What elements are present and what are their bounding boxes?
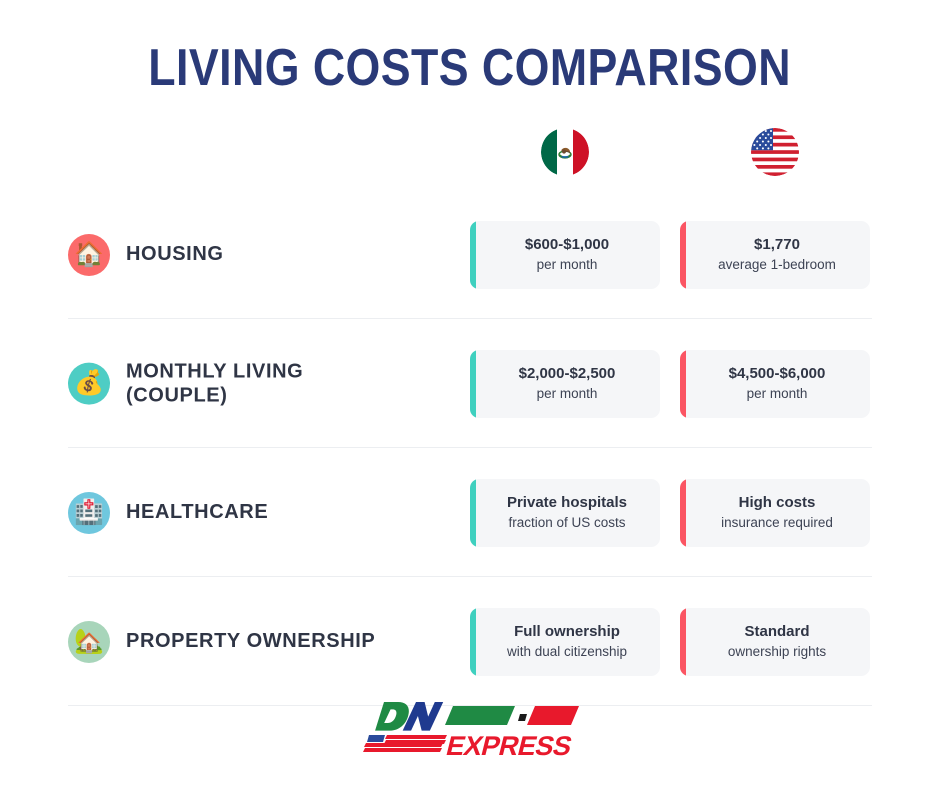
card-primary-value: Private hospitals: [507, 493, 627, 513]
row-category-monthly-living: 💰 MONTHLY LIVING (COUPLE): [68, 359, 458, 408]
card-secondary-value: average 1-bedroom: [718, 256, 836, 274]
accent-bar-usa: [680, 221, 686, 289]
card-primary-value: Full ownership: [507, 622, 627, 642]
card-secondary-value: per month: [525, 256, 609, 274]
row-label: MONTHLY LIVING (COUPLE): [126, 359, 303, 408]
card-primary-value: $1,770: [718, 235, 836, 255]
comparison-table: 🏠 HOUSING $600-$1,000 per month $1,770 a…: [0, 190, 940, 706]
card-secondary-value: insurance required: [721, 514, 833, 532]
dn-express-logo: EXPRESS: [355, 698, 590, 760]
accent-bar-usa: [680, 350, 686, 418]
card-primary-value: Standard: [728, 622, 826, 642]
accent-bar-mexico: [470, 221, 476, 289]
house-icon: 🏠: [68, 234, 110, 276]
value-card-usa: Standard ownership rights: [680, 608, 870, 676]
row-label: HOUSING: [126, 242, 224, 266]
money-bag-icon: 💰: [68, 363, 110, 405]
value-card-usa: $4,500-$6,000 per month: [680, 350, 870, 418]
svg-text:EXPRESS: EXPRESS: [443, 730, 575, 760]
column-header-flags: [0, 126, 940, 182]
hospital-icon: 🏥: [68, 492, 110, 534]
value-card-mexico: $600-$1,000 per month: [470, 221, 660, 289]
table-row: 🏠 HOUSING $600-$1,000 per month $1,770 a…: [0, 190, 940, 319]
flag-usa-icon: [751, 128, 799, 176]
flag-mexico-icon: [541, 128, 589, 176]
row-label: HEALTHCARE: [126, 500, 268, 524]
accent-bar-mexico: [470, 479, 476, 547]
table-row: 🏥 HEALTHCARE Private hospitals fraction …: [0, 448, 940, 577]
row-label: PROPERTY OWNERSHIP: [126, 629, 375, 653]
house-with-garden-icon: 🏡: [68, 621, 110, 663]
row-category-housing: 🏠 HOUSING: [68, 234, 458, 276]
accent-bar-mexico: [470, 608, 476, 676]
card-secondary-value: ownership rights: [728, 643, 826, 661]
page-title: LIVING COSTS COMPARISON: [149, 42, 792, 94]
card-primary-value: High costs: [721, 493, 833, 513]
row-category-healthcare: 🏥 HEALTHCARE: [68, 492, 458, 534]
value-card-mexico: Private hospitals fraction of US costs: [470, 479, 660, 547]
accent-bar-usa: [680, 479, 686, 547]
table-row: 💰 MONTHLY LIVING (COUPLE) $2,000-$2,500 …: [0, 319, 940, 448]
value-card-mexico: $2,000-$2,500 per month: [470, 350, 660, 418]
value-card-mexico: Full ownership with dual citizenship: [470, 608, 660, 676]
title-bar: LIVING COSTS COMPARISON: [0, 0, 940, 94]
card-primary-value: $2,000-$2,500: [519, 364, 616, 384]
card-primary-value: $600-$1,000: [525, 235, 609, 255]
card-secondary-value: per month: [519, 385, 616, 403]
card-primary-value: $4,500-$6,000: [729, 364, 826, 384]
value-card-usa: $1,770 average 1-bedroom: [680, 221, 870, 289]
accent-bar-mexico: [470, 350, 476, 418]
table-row: 🏡 PROPERTY OWNERSHIP Full ownership with…: [0, 577, 940, 706]
card-secondary-value: with dual citizenship: [507, 643, 627, 661]
card-secondary-value: per month: [729, 385, 826, 403]
row-category-property-ownership: 🏡 PROPERTY OWNERSHIP: [68, 621, 458, 663]
value-card-usa: High costs insurance required: [680, 479, 870, 547]
accent-bar-usa: [680, 608, 686, 676]
card-secondary-value: fraction of US costs: [507, 514, 627, 532]
